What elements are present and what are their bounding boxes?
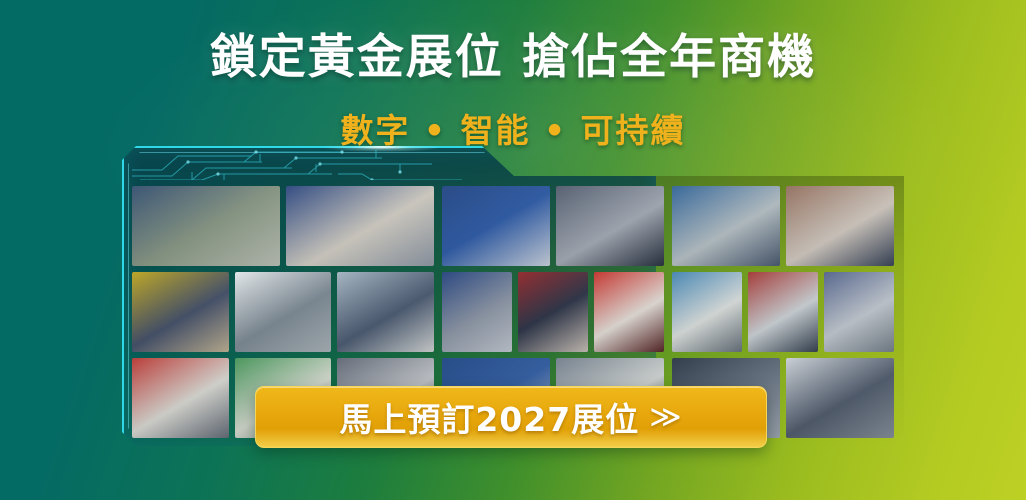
photo-thumbnail	[235, 272, 332, 352]
collage-row	[442, 272, 664, 352]
photo-thumbnail	[748, 272, 818, 352]
photo-thumbnail	[786, 186, 894, 266]
double-chevron-right-icon: ≫	[649, 402, 682, 433]
collage-row	[132, 186, 434, 266]
cta-label: 馬上預訂2027展位	[339, 393, 639, 441]
photo-thumbnail	[594, 272, 664, 352]
book-booth-cta-button[interactable]: 馬上預訂2027展位 ≫	[255, 386, 767, 448]
photo-thumbnail	[442, 186, 550, 266]
photo-thumbnail	[132, 186, 280, 266]
collage-row	[132, 272, 434, 352]
photo-thumbnail	[132, 272, 229, 352]
promo-banner: 鎖定黃金展位 搶佔全年商機 數字 • 智能 • 可持續	[0, 0, 1026, 500]
photo-thumbnail	[786, 358, 894, 438]
photo-thumbnail	[132, 358, 229, 438]
photo-thumbnail	[442, 272, 512, 352]
photo-thumbnail	[672, 272, 742, 352]
photo-thumbnail	[672, 186, 780, 266]
page-title: 鎖定黃金展位 搶佔全年商機	[0, 34, 1026, 83]
photo-thumbnail	[518, 272, 588, 352]
collage-row	[672, 272, 894, 352]
cta-label-wrap: 馬上預訂2027展位 ≫	[339, 393, 682, 441]
photo-thumbnail	[337, 272, 434, 352]
photo-thumbnail	[556, 186, 664, 266]
photo-thumbnail	[286, 186, 434, 266]
collage-row	[442, 186, 664, 266]
circuit-board-icon	[132, 150, 502, 180]
photo-thumbnail	[824, 272, 894, 352]
page-subtitle: 數字 • 智能 • 可持續	[0, 104, 1026, 152]
collage-row	[672, 186, 894, 266]
